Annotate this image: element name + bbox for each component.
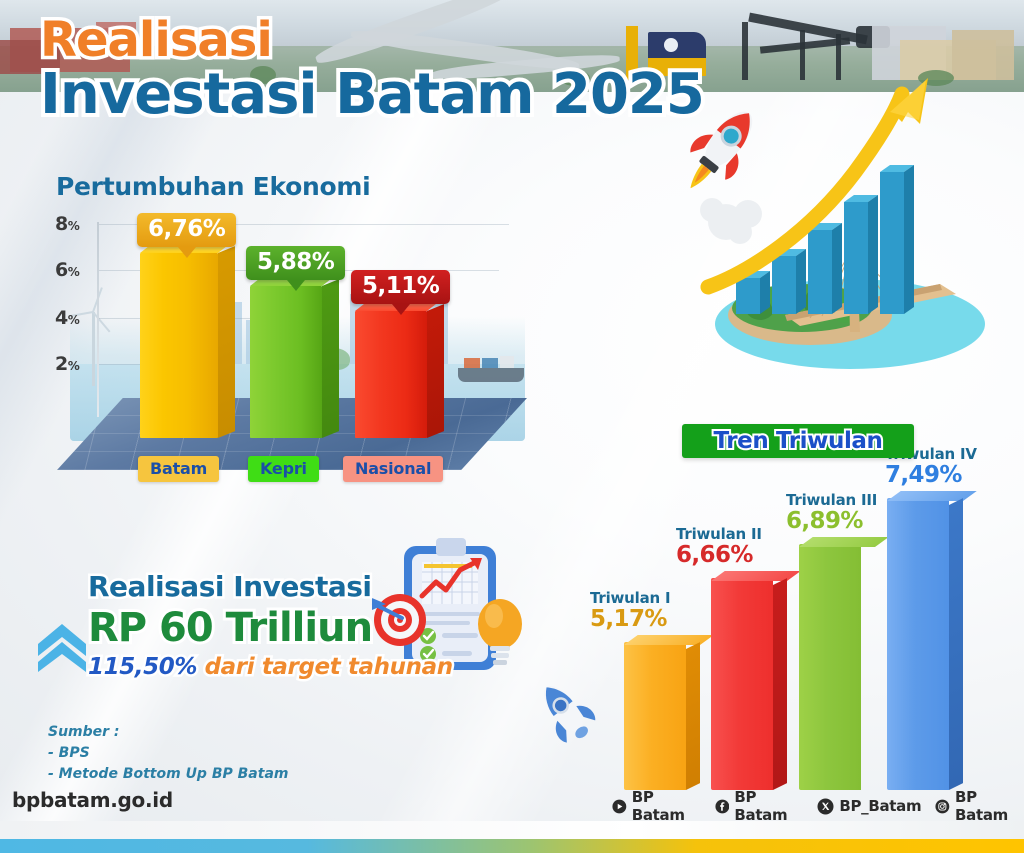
- chip-label-nasional: Nasional: [355, 459, 431, 478]
- bar-nasional: [355, 311, 427, 438]
- page-title-line-2: Investasi Batam 2025: [40, 66, 704, 125]
- page-title-line-1: Realisasi: [40, 16, 704, 64]
- chip-label-kepri: Kepri: [260, 459, 307, 478]
- investment-target-line: 115,50% dari target tahunan: [88, 654, 453, 680]
- qlabel-triwulan-2: Triwulan II 6,66%: [676, 525, 762, 568]
- qbar-triwulan-4: [887, 498, 949, 790]
- qlabel-triwulan-1: Triwulan I 5,17%: [590, 589, 670, 632]
- investment-target-text: dari target tahunan: [205, 654, 453, 680]
- qlabel-triwulan-3: Triwulan III 6,89%: [786, 491, 877, 534]
- y-tick-8: 8%: [55, 213, 79, 235]
- sources-label: Sumber :: [48, 722, 288, 743]
- hero-illustration: [690, 72, 1010, 402]
- qbar-triwulan-1: [624, 642, 686, 790]
- social-handle-youtube: BP Batam: [632, 788, 701, 824]
- y-tick-6: 6%: [55, 259, 79, 281]
- infographic-page: Realisasi Investasi Batam 2025 Pertumbuh…: [0, 0, 1024, 853]
- qbar-triwulan-2: [711, 578, 773, 790]
- value-callout-batam: 6,76%: [137, 213, 236, 247]
- social-handle-facebook: BP Batam: [734, 788, 803, 824]
- social-instagram[interactable]: BP Batam: [935, 788, 1024, 824]
- investment-heading: Realisasi Investasi: [88, 570, 453, 603]
- investment-amount: RP 60 Trilliun: [88, 605, 453, 651]
- social-handle-x: BP_Batam: [839, 797, 921, 815]
- source-item-0: - BPS: [48, 743, 288, 764]
- website-label: bpbatam.go.id: [12, 788, 173, 812]
- category-chip-batam: Batam: [138, 456, 219, 482]
- rocket-icon: [528, 672, 602, 754]
- title-block: Realisasi Investasi Batam 2025: [40, 16, 704, 125]
- bar-kepri: [250, 286, 322, 438]
- category-chip-nasional: Nasional: [343, 456, 443, 482]
- growth-bar-chart: 8% 6% 4% 2% 6,76%: [35, 208, 535, 488]
- youtube-icon: [612, 798, 627, 815]
- footer-gradient-bar: [0, 839, 1024, 853]
- social-facebook[interactable]: BP Batam: [715, 788, 804, 824]
- social-handle-instagram: BP Batam: [955, 788, 1024, 824]
- footer-white-strip: [0, 821, 1024, 839]
- tren-triwulan-label: Tren Triwulan: [713, 428, 882, 454]
- y-tick-4: 4%: [55, 307, 79, 329]
- qbar-triwulan-3: [799, 544, 861, 790]
- double-chevron-up-icon: [34, 618, 90, 678]
- investment-percent: 115,50%: [88, 654, 197, 680]
- value-callout-kepri: 5,88%: [246, 246, 345, 280]
- social-youtube[interactable]: BP Batam: [612, 788, 701, 824]
- y-axis-line: [97, 222, 99, 417]
- source-item-1: - Metode Bottom Up BP Batam: [48, 764, 288, 785]
- facebook-icon: [715, 798, 730, 815]
- tren-triwulan-badge: Tren Triwulan: [682, 424, 914, 458]
- instagram-icon: [935, 798, 950, 815]
- value-label-kepri: 5,88%: [257, 249, 334, 275]
- cargo-ship-icon: [458, 368, 524, 382]
- sources-block: Sumber : - BPS - Metode Bottom Up BP Bat…: [48, 722, 288, 785]
- bar-batam: [140, 253, 218, 438]
- investment-block: Realisasi Investasi RP 60 Trilliun 115,5…: [88, 570, 453, 680]
- value-label-batam: 6,76%: [148, 216, 225, 242]
- x-twitter-icon: [817, 798, 834, 815]
- y-tick-2: 2%: [55, 353, 79, 375]
- chip-label-batam: Batam: [150, 459, 207, 478]
- value-callout-nasional: 5,11%: [351, 270, 450, 304]
- value-label-nasional: 5,11%: [362, 273, 439, 299]
- category-chip-kepri: Kepri: [248, 456, 319, 482]
- social-x[interactable]: BP_Batam: [817, 797, 921, 815]
- growth-section-title: Pertumbuhan Ekonomi: [56, 172, 370, 201]
- social-links: BP Batam BP Batam BP_Batam BP Batam: [612, 788, 1024, 824]
- quarterly-bar-chart: Triwulan I 5,17% Triwulan II 6,66% Triwu…: [560, 470, 1024, 790]
